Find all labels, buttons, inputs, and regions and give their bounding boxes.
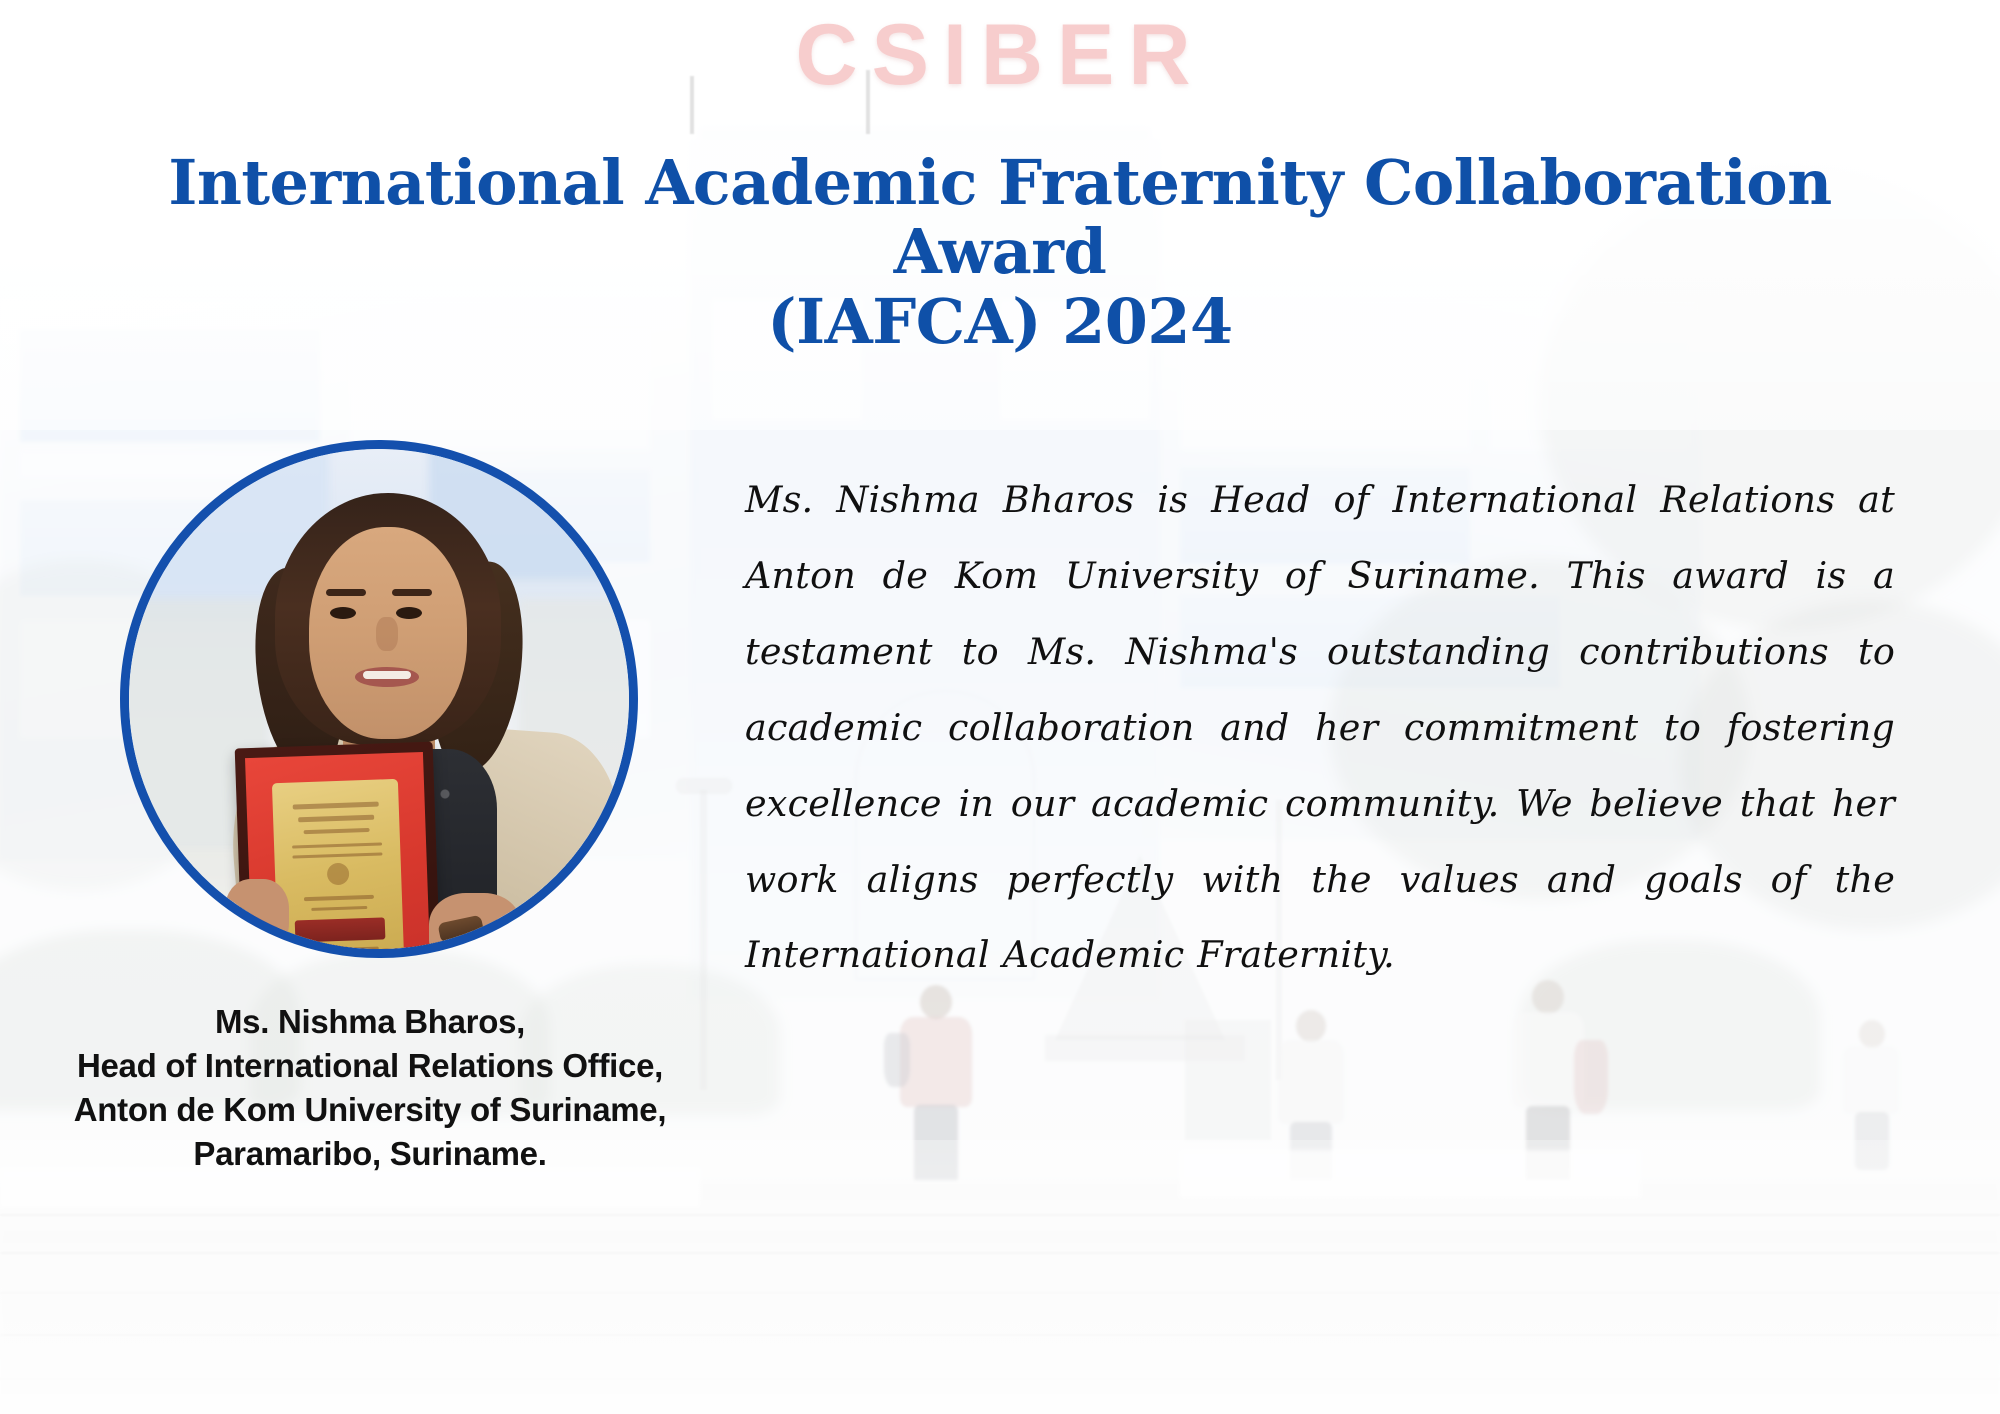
step-slab [1180,1150,1640,1198]
caption-line-1: Ms. Nishma Bharos, [40,1000,700,1044]
eyebrow-right [392,589,432,596]
light-pole [700,790,707,1090]
step-edge [0,1292,2000,1294]
person-figure [890,985,980,1185]
eyebrow-left [326,589,366,596]
portrait-caption: Ms. Nishma Bharos, Head of International… [40,1000,700,1176]
caption-line-2: Head of International Relations Office, [40,1044,700,1088]
step-edge [0,1378,2000,1380]
step-edge [0,1214,2000,1216]
award-description-paragraph: Ms. Nishma Bharos is Head of Internation… [745,462,1895,993]
portrait-image [129,449,629,949]
page-title: International Academic Fraternity Collab… [100,148,1900,356]
notice-board [1185,1020,1271,1140]
plaque-gold-plate [272,779,404,949]
eye-left [330,607,356,619]
teeth [363,671,411,679]
hand-left [225,879,289,949]
nose [376,617,398,651]
award-poster: CSIBER International Academic Fraternity… [0,0,2000,1414]
caption-line-4: Paramaribo, Suriname. [40,1132,700,1176]
portrait-photo [120,440,638,958]
csiber-signage-text: CSIBER [0,6,2000,105]
portrait-circle-border [120,440,638,958]
eye-right [396,607,422,619]
step-edge [0,1252,2000,1254]
page-title-line-1: International Academic Fraternity Collab… [100,148,1900,287]
page-title-line-2: (IAFCA) 2024 [100,287,1900,356]
step-edge [0,1334,2000,1336]
plaque-seal [327,862,350,885]
caption-line-3: Anton de Kom University of Suriname, [40,1088,700,1132]
light-fixture [676,778,732,794]
person-figure [1835,1020,1905,1170]
plaque-name-bar [294,917,385,942]
